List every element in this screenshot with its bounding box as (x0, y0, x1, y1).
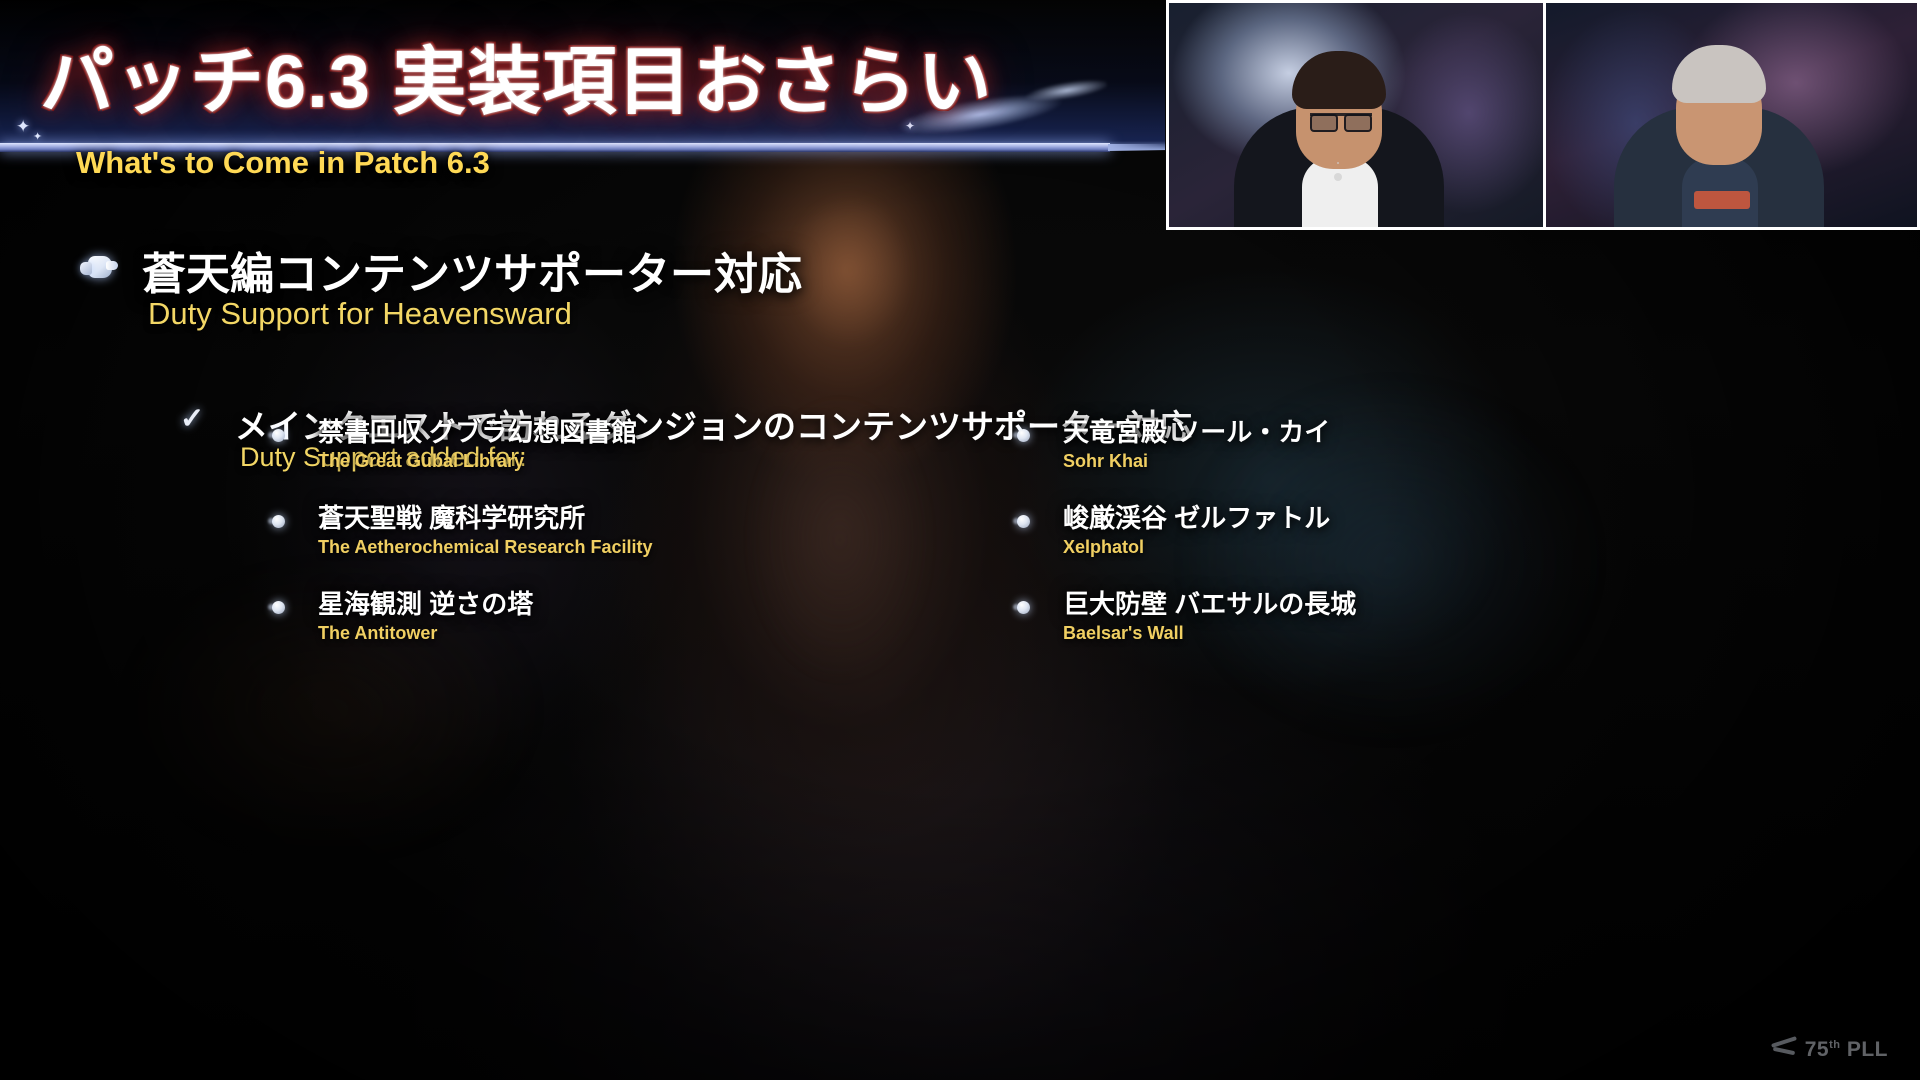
camera-feed-right (1543, 3, 1917, 227)
list-item: 星海観測 逆さの塔 The Antitower (260, 590, 665, 644)
dungeon-name-en: Xelphatol (1063, 537, 1410, 558)
watermark-label: 75th PLL (1805, 1038, 1888, 1062)
dungeon-name-ja: 峻厳渓谷 ゼルファトル (1063, 504, 1410, 533)
bullet-icon (272, 601, 285, 614)
dungeon-name-en: The Antitower (318, 623, 665, 644)
dungeon-name-en: Sohr Khai (1063, 451, 1410, 472)
dungeon-name-ja: 巨大防壁 バエサルの長城 (1063, 590, 1410, 619)
presenter-left (1224, 42, 1474, 227)
dungeon-name-ja: 禁書回収 グブラ幻想図書館 (318, 418, 665, 447)
list-item: 峻厳渓谷 ゼルファトル Xelphatol (1005, 504, 1410, 558)
dungeon-column-left: 禁書回収 グブラ幻想図書館 The Great Gubal Library 蒼天… (260, 418, 665, 644)
ffxiv-meteor-icon (1769, 1036, 1799, 1062)
section-heading-ja: 蒼天編コンテンツサポーター対応 (142, 238, 802, 302)
list-item: 巨大防壁 バエサルの長城 Baelsar's Wall (1005, 590, 1410, 644)
content-section: 蒼天編コンテンツサポーター対応 Duty Support for Heavens… (70, 238, 1410, 446)
dungeon-column-right: 天竜宮殿 ソール・カイ Sohr Khai 峻厳渓谷 ゼルファトル Xelpha… (1005, 418, 1410, 644)
camera-feed-left (1169, 3, 1543, 227)
watermark-ordinal: th (1829, 1039, 1840, 1051)
dungeon-name-en: The Great Gubal Library (318, 451, 665, 472)
webcam-overlay (1166, 0, 1920, 230)
broadcast-watermark: 75th PLL (1769, 1036, 1888, 1062)
page-subtitle: What's to Come in Patch 6.3 (76, 145, 490, 181)
dungeon-name-en: Baelsar's Wall (1063, 623, 1410, 644)
dungeon-name-ja: 星海観測 逆さの塔 (318, 590, 665, 619)
check-icon: ✓ (180, 406, 210, 432)
dungeon-name-ja: 蒼天聖戦 魔科学研究所 (318, 504, 665, 533)
bullet-icon (272, 429, 285, 442)
list-item: 天竜宮殿 ソール・カイ Sohr Khai (1005, 418, 1410, 472)
page-title: パッチ6.3 実装項目おさらい (40, 22, 992, 129)
sparkle-icon: ✦ (16, 118, 30, 135)
dungeon-name-ja: 天竜宮殿 ソール・カイ (1063, 418, 1410, 447)
sparkle-icon: ✦ (33, 132, 42, 143)
watermark-suffix: PLL (1841, 1038, 1889, 1061)
bullet-icon (1017, 515, 1030, 528)
broadcast-slide: ✦ ✦ ✦ パッチ6.3 実装項目おさらい What's to Come in … (0, 0, 1920, 1080)
section-heading-row: 蒼天編コンテンツサポーター対応 Duty Support for Heavens… (70, 238, 1410, 294)
presenter-right (1606, 37, 1856, 227)
glasses-icon (1310, 113, 1372, 127)
bullet-icon (272, 515, 285, 528)
dungeon-list: 禁書回収 グブラ幻想図書館 The Great Gubal Library 蒼天… (260, 418, 1410, 644)
section-heading-en: Duty Support for Heavensward (148, 296, 572, 332)
watermark-number: 75 (1805, 1038, 1829, 1061)
bullet-icon (1017, 601, 1030, 614)
pointing-hand-icon (80, 254, 116, 280)
list-item: 禁書回収 グブラ幻想図書館 The Great Gubal Library (260, 418, 665, 472)
bullet-icon (1017, 429, 1030, 442)
list-item: 蒼天聖戦 魔科学研究所 The Aetherochemical Research… (260, 504, 665, 558)
dungeon-name-en: The Aetherochemical Research Facility (318, 537, 665, 558)
